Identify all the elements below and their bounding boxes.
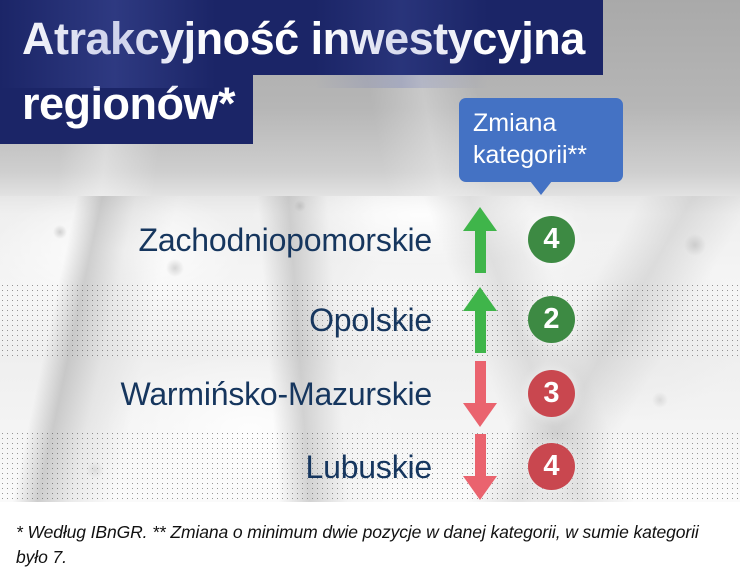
change-direction-cell (432, 207, 528, 273)
arrow-down-icon (463, 361, 497, 427)
change-direction-cell (432, 361, 528, 427)
status-badge: 2 (528, 296, 575, 343)
table-row: Opolskie 2 (0, 283, 740, 356)
page-title-line-1: Atrakcyjność inwestycyjna (0, 0, 603, 75)
change-value-cell: 4 (528, 216, 608, 263)
region-label: Lubuskie (0, 450, 432, 484)
status-badge: 3 (528, 370, 575, 417)
table-row: Lubuskie 4 (0, 431, 740, 502)
arrow-down-icon (463, 434, 497, 500)
region-rows: Zachodniopomorskie 4 Opolskie (0, 196, 740, 502)
change-direction-cell (432, 434, 528, 500)
change-direction-cell (432, 287, 528, 353)
region-label: Warmińsko-Mazurskie (0, 377, 432, 411)
change-value-cell: 3 (528, 370, 608, 417)
table-row: Warmińsko-Mazurskie 3 (0, 356, 740, 431)
column-legend-tooltip: Zmiana kategorii** (459, 98, 623, 182)
region-label: Zachodniopomorskie (0, 223, 432, 257)
region-label: Opolskie (0, 303, 432, 337)
tooltip-pointer-icon (530, 181, 552, 195)
footnote-text: * Według IBnGR. ** Zmiana o minimum dwie… (0, 502, 740, 582)
table-row: Zachodniopomorskie 4 (0, 196, 740, 283)
tooltip-line-1: Zmiana (473, 107, 609, 139)
tooltip-line-2: kategorii** (473, 139, 609, 171)
change-value-cell: 2 (528, 296, 608, 343)
infographic-root: Atrakcyjność inwestycyjna regionów* Zmia… (0, 0, 740, 582)
arrow-up-icon (463, 287, 497, 353)
status-badge: 4 (528, 443, 575, 490)
status-badge: 4 (528, 216, 575, 263)
page-title-line-2: regionów* (0, 75, 253, 144)
change-value-cell: 4 (528, 443, 608, 490)
arrow-up-icon (463, 207, 497, 273)
